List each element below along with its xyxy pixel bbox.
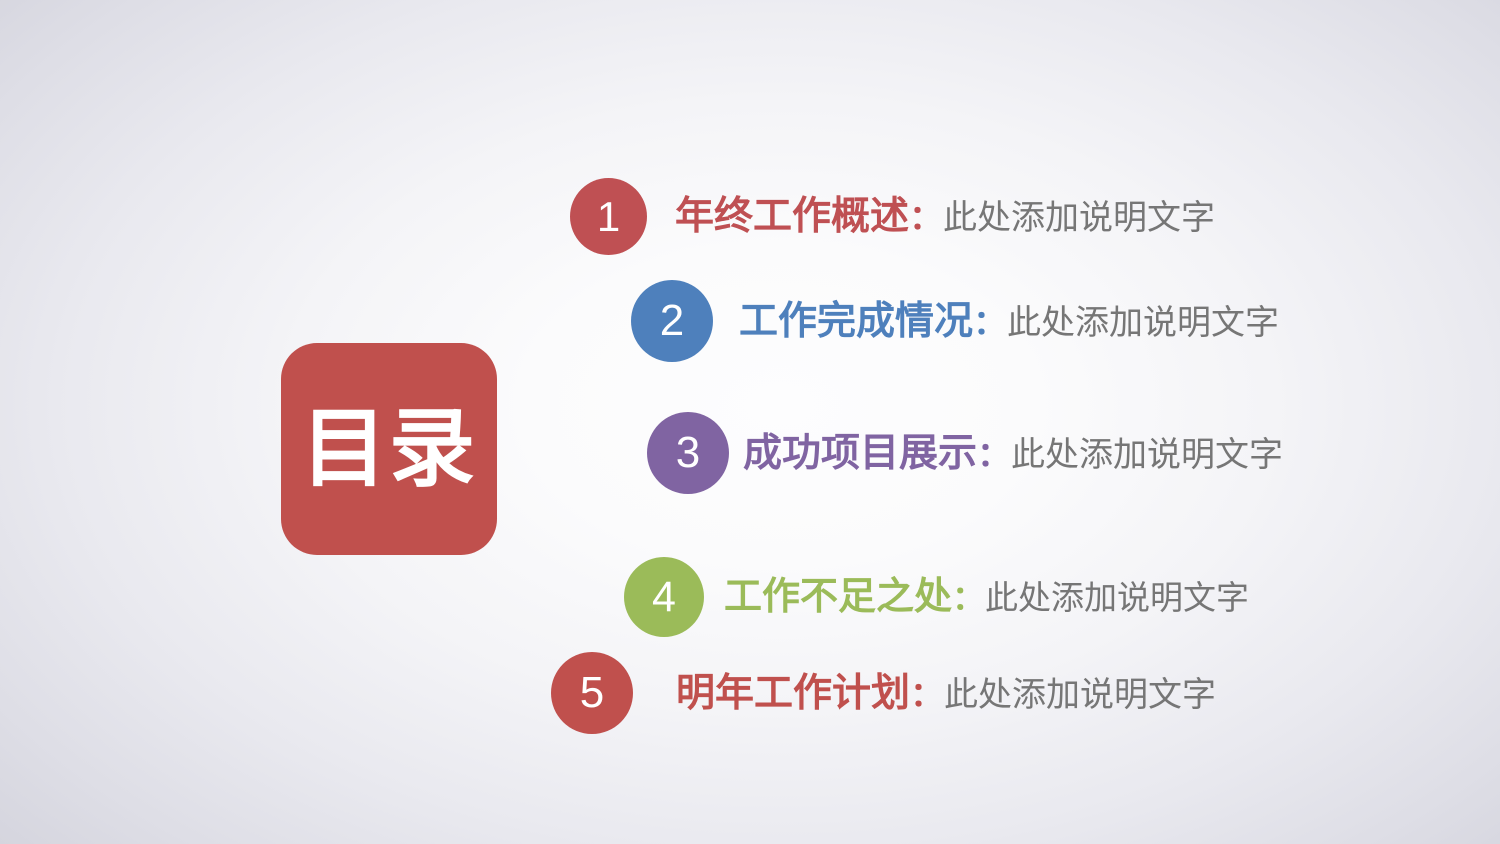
toc-item-number-4: 4 [652,576,676,619]
toc-item-title-1: 年终工作概述 [675,197,909,236]
toc-item-title-4: 工作不足之处 [724,578,952,616]
toc-list-item-2[interactable]: 2 工作完成情况 ： 此处添加说明文字 [631,280,1279,362]
toc-item-number-circle-3: 3 [647,412,729,494]
toc-item-text-5: 明年工作计划 ： 此处添加说明文字 [676,674,1216,713]
toc-item-text-1: 年终工作概述 ： 此处添加说明文字 [675,197,1215,236]
toc-item-text-4: 工作不足之处 ： 此处添加说明文字 [724,578,1249,616]
toc-item-number-circle-1: 1 [570,178,647,255]
toc-item-number-circle-2: 2 [631,280,713,362]
toc-item-title-2: 工作完成情况 [739,302,973,341]
toc-list-item-5[interactable]: 5 明年工作计划 ： 此处添加说明文字 [551,652,1216,734]
toc-list-item-4[interactable]: 4 工作不足之处 ： 此处添加说明文字 [624,557,1249,637]
toc-list-item-1[interactable]: 1 年终工作概述 ： 此处添加说明文字 [570,178,1215,255]
toc-item-number-2: 2 [660,299,684,343]
toc-item-description-4: 此处添加说明文字 [985,581,1249,614]
toc-badge: 目录 [281,343,497,555]
presentation-slide: 目录 1 年终工作概述 ： 此处添加说明文字 2 工作完成情况 ： 此处添加说明… [0,0,1500,844]
toc-item-number-5: 5 [580,671,604,715]
toc-item-description-2: 此处添加说明文字 [1007,306,1279,340]
toc-item-colon-4: ： [952,581,985,614]
toc-badge-label: 目录 [301,406,477,492]
toc-item-description-5: 此处添加说明文字 [944,678,1216,712]
toc-item-number-3: 3 [676,431,700,475]
toc-item-text-3: 成功项目展示 ： 此处添加说明文字 [743,434,1283,473]
toc-item-colon-5: ： [910,678,944,712]
toc-list-item-3[interactable]: 3 成功项目展示 ： 此处添加说明文字 [647,412,1283,494]
toc-item-number-1: 1 [597,196,620,238]
toc-item-title-3: 成功项目展示 [743,434,977,473]
toc-item-colon-3: ： [977,438,1011,472]
toc-item-title-5: 明年工作计划 [676,674,910,713]
toc-item-colon-2: ： [973,306,1007,340]
toc-item-colon-1: ： [909,201,943,235]
toc-item-text-2: 工作完成情况 ： 此处添加说明文字 [739,302,1279,341]
toc-item-number-circle-4: 4 [624,557,704,637]
toc-item-description-1: 此处添加说明文字 [943,201,1215,235]
toc-item-description-3: 此处添加说明文字 [1011,438,1283,472]
toc-item-number-circle-5: 5 [551,652,633,734]
